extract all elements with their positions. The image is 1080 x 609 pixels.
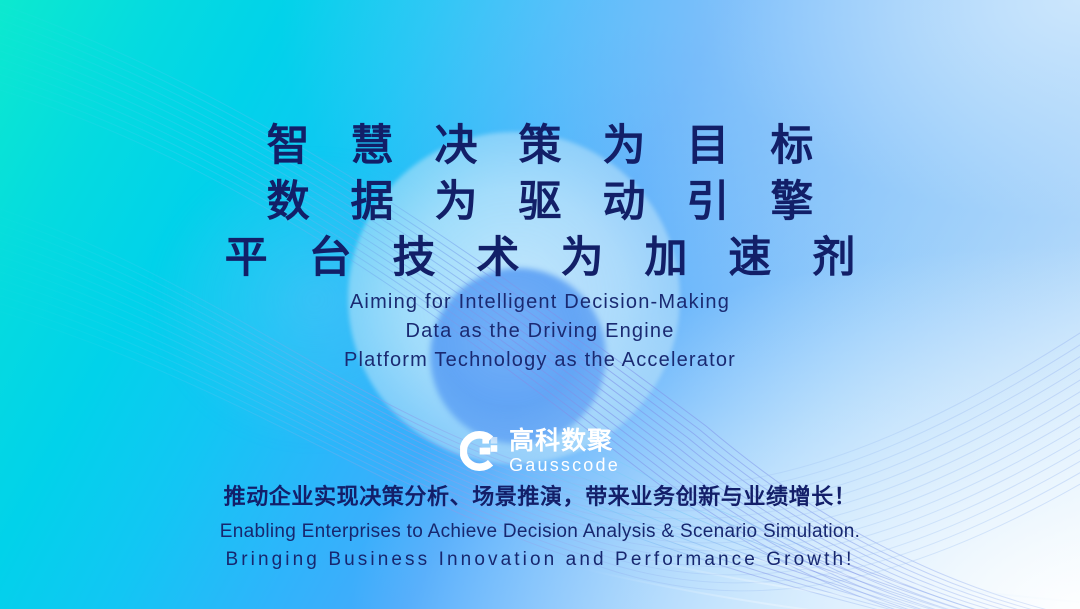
tagline-english-line-1: Enabling Enterprises to Achieve Decision… (0, 518, 1080, 546)
subheadline-line-3: Platform Technology as the Accelerator (0, 346, 1080, 375)
logo-text-block: 高科数聚 Gausscode (509, 428, 620, 474)
logo-name-en: Gausscode (509, 456, 620, 474)
headline-line-3: 平 台 技 术 为 加 速 剂 (0, 230, 1080, 286)
promo-banner: 智 慧 决 策 为 目 标 数 据 为 驱 动 引 擎 平 台 技 术 为 加 … (0, 0, 1080, 609)
brand-logo: 高科数聚 Gausscode (460, 428, 620, 474)
tagline-chinese: 推动企业实现决策分析、场景推演，带来业务创新与业绩增长！ (0, 482, 1080, 513)
subheadline-line-2: Data as the Driving Engine (0, 317, 1080, 346)
tagline-block: 推动企业实现决策分析、场景推演，带来业务创新与业绩增长！ Enabling En… (0, 482, 1080, 574)
headline-block: 智 慧 决 策 为 目 标 数 据 为 驱 动 引 擎 平 台 技 术 为 加 … (0, 118, 1080, 286)
subheadline-line-1: Aiming for Intelligent Decision-Making (0, 288, 1080, 317)
headline-line-1: 智 慧 决 策 为 目 标 (0, 118, 1080, 174)
logo-name-cn: 高科数聚 (509, 428, 620, 453)
headline-line-2: 数 据 为 驱 动 引 擎 (0, 174, 1080, 230)
subheadline-block: Aiming for Intelligent Decision-Making D… (0, 288, 1080, 375)
gausscode-g-logo-icon (460, 431, 500, 471)
tagline-english-line-2: Bringing Business Innovation and Perform… (0, 546, 1080, 574)
